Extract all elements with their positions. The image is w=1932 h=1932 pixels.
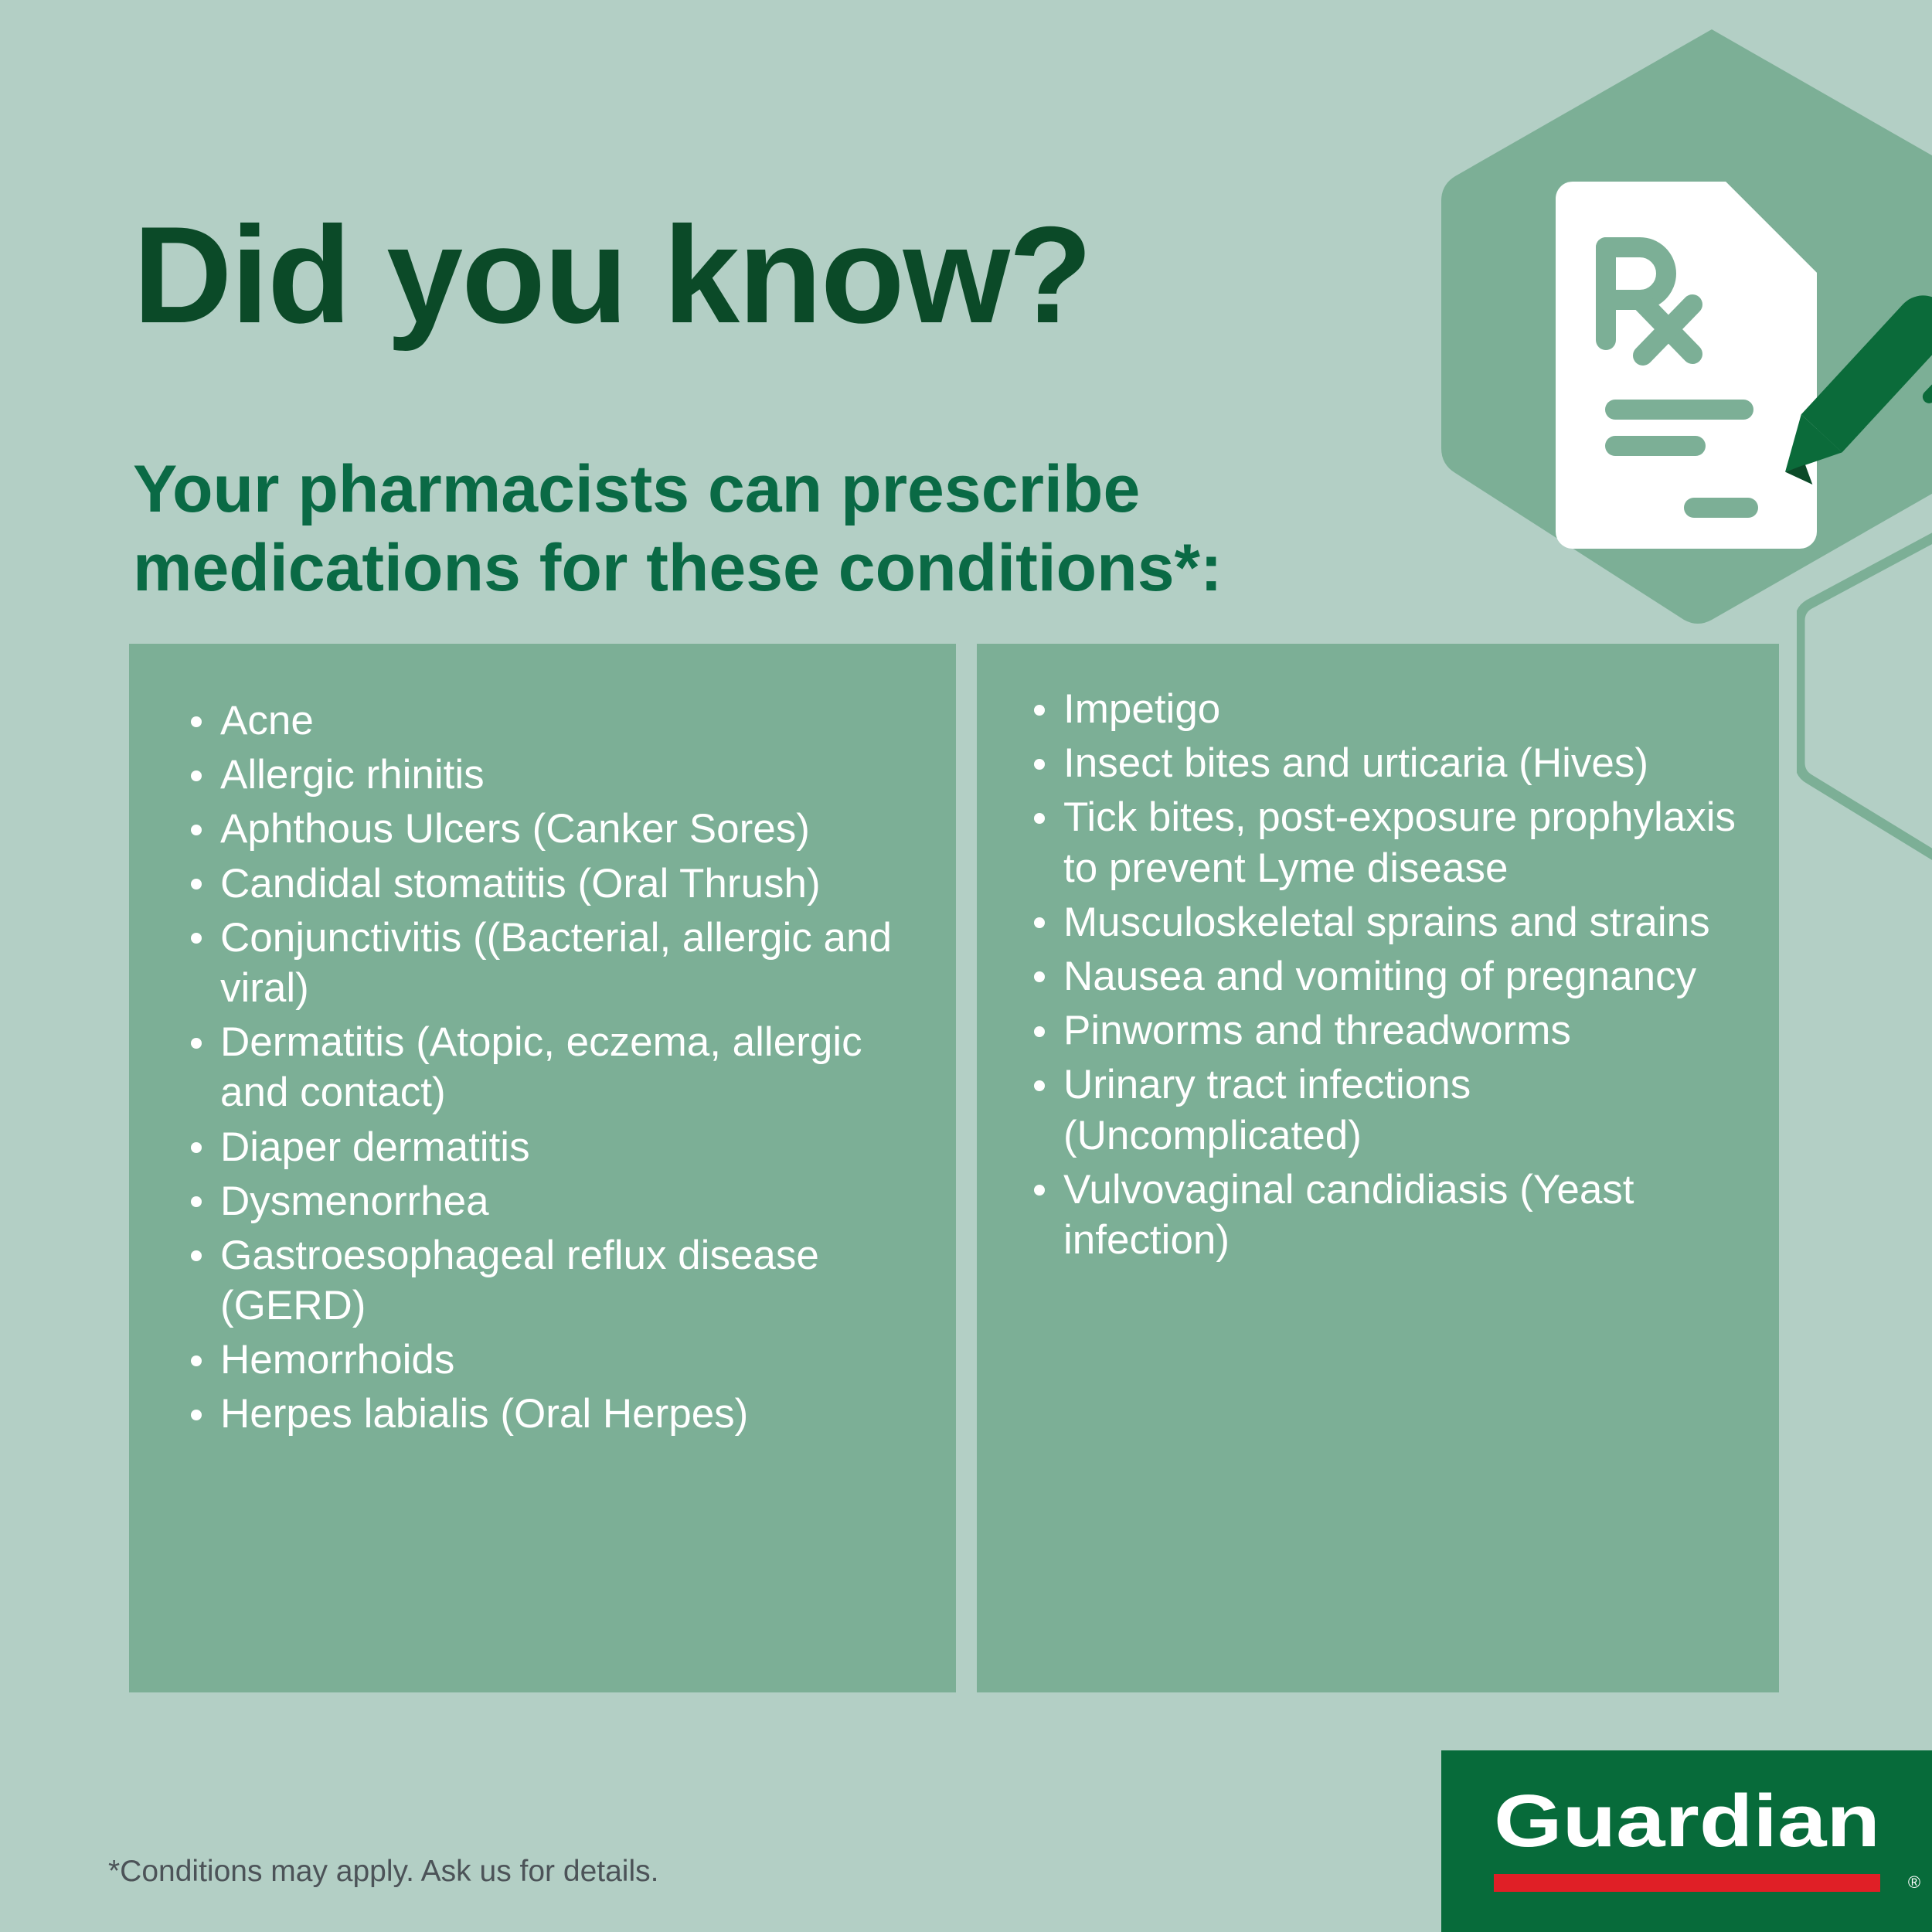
bullet-icon bbox=[1034, 813, 1045, 824]
condition-label: Aphthous Ulcers (Canker Sores) bbox=[220, 806, 810, 852]
bullet-icon bbox=[1034, 1026, 1045, 1037]
bullet-icon bbox=[191, 825, 202, 835]
hexagon-solid-decor bbox=[1441, 23, 1932, 626]
condition-label: Musculoskeletal sprains and strains bbox=[1063, 900, 1710, 945]
guardian-red-rule bbox=[1494, 1874, 1880, 1892]
condition-list-item: Herpes labialis (Oral Herpes) bbox=[186, 1389, 920, 1439]
bullet-icon bbox=[1034, 1080, 1045, 1091]
bullet-icon bbox=[191, 1142, 202, 1153]
guardian-wordmark-text: Guardian bbox=[1494, 1784, 1880, 1860]
condition-list-item: Impetigo bbox=[1029, 684, 1771, 734]
bullet-icon bbox=[1034, 705, 1045, 716]
condition-list-item: Allergic rhinitis bbox=[186, 750, 920, 800]
condition-label: Candidal stomatitis (Oral Thrush) bbox=[220, 861, 821, 906]
bullet-icon bbox=[191, 716, 202, 727]
condition-label: Impetigo bbox=[1063, 686, 1220, 732]
condition-list-item: Diaper dermatitis bbox=[186, 1122, 920, 1172]
conditions-card-left: AcneAllergic rhinitisAphthous Ulcers (Ca… bbox=[129, 644, 956, 1692]
infographic-poster: Did you know? Your pharmacists can presc… bbox=[0, 0, 1932, 1932]
page-title: Did you know? bbox=[133, 206, 1091, 344]
registered-trademark-icon: ® bbox=[1904, 1873, 1924, 1893]
bullet-icon bbox=[191, 933, 202, 944]
prescription-document-pen-icon bbox=[1556, 182, 1932, 549]
condition-list-item: Insect bites and urticaria (Hives) bbox=[1029, 738, 1771, 788]
bullet-icon bbox=[1034, 759, 1045, 770]
condition-label: Dermatitis (Atopic, eczema, allergic and… bbox=[220, 1019, 862, 1115]
bullet-icon bbox=[191, 879, 202, 889]
guardian-wordmark: Guardian bbox=[1494, 1784, 1880, 1860]
condition-list-item: Vulvovaginal candidiasis (Yeast infectio… bbox=[1029, 1165, 1771, 1265]
bullet-icon bbox=[191, 1410, 202, 1420]
condition-label: Insect bites and urticaria (Hives) bbox=[1063, 740, 1648, 786]
condition-list-item: Aphthous Ulcers (Canker Sores) bbox=[186, 804, 920, 854]
guardian-logo: Guardian ® bbox=[1441, 1750, 1932, 1932]
bullet-icon bbox=[191, 1355, 202, 1366]
footnote-disclaimer: *Conditions may apply. Ask us for detail… bbox=[108, 1855, 658, 1889]
condition-list-item: Urinary tract infections (Uncomplicated) bbox=[1029, 1060, 1771, 1160]
condition-list-item: Tick bites, post-exposure prophylaxis to… bbox=[1029, 792, 1771, 893]
condition-label: Nausea and vomiting of pregnancy bbox=[1063, 954, 1696, 999]
condition-list-item: Candidal stomatitis (Oral Thrush) bbox=[186, 859, 920, 909]
condition-label: Conjunctivitis ((Bacterial, allergic and… bbox=[220, 915, 892, 1011]
condition-list-item: Dermatitis (Atopic, eczema, allergic and… bbox=[186, 1017, 920, 1117]
condition-label: Vulvovaginal candidiasis (Yeast infectio… bbox=[1063, 1167, 1634, 1263]
condition-list-item: Gastroesophageal reflux disease (GERD) bbox=[186, 1230, 920, 1331]
condition-label: Diaper dermatitis bbox=[220, 1124, 530, 1170]
condition-list-item: Pinworms and threadworms bbox=[1029, 1005, 1771, 1056]
condition-label: Herpes labialis (Oral Herpes) bbox=[220, 1391, 748, 1437]
condition-label: Tick bites, post-exposure prophylaxis to… bbox=[1063, 794, 1736, 890]
bullet-icon bbox=[191, 1196, 202, 1207]
bullet-icon bbox=[191, 1250, 202, 1261]
condition-label: Acne bbox=[220, 698, 314, 743]
page-subtitle: Your pharmacists can prescribe medicatio… bbox=[133, 451, 1261, 607]
condition-list-item: Nausea and vomiting of pregnancy bbox=[1029, 951, 1771, 1002]
bullet-icon bbox=[1034, 917, 1045, 928]
bullet-icon bbox=[1034, 1185, 1045, 1196]
bullet-icon bbox=[191, 770, 202, 781]
condition-list-item: Conjunctivitis ((Bacterial, allergic and… bbox=[186, 913, 920, 1013]
conditions-cards: AcneAllergic rhinitisAphthous Ulcers (Ca… bbox=[129, 644, 1779, 1692]
condition-label: Allergic rhinitis bbox=[220, 752, 485, 798]
condition-label: Urinary tract infections (Uncomplicated) bbox=[1063, 1062, 1471, 1158]
condition-list-item: Hemorrhoids bbox=[186, 1335, 920, 1385]
condition-label: Pinworms and threadworms bbox=[1063, 1008, 1571, 1053]
hexagon-outline-decor bbox=[1797, 510, 1932, 873]
conditions-list-right: ImpetigoInsect bites and urticaria (Hive… bbox=[1029, 684, 1771, 1269]
condition-label: Dysmenorrhea bbox=[220, 1179, 489, 1224]
condition-list-item: Musculoskeletal sprains and strains bbox=[1029, 897, 1771, 947]
condition-list-item: Acne bbox=[186, 696, 920, 746]
condition-label: Gastroesophageal reflux disease (GERD) bbox=[220, 1233, 819, 1328]
condition-list-item: Dysmenorrhea bbox=[186, 1176, 920, 1226]
conditions-list-left: AcneAllergic rhinitisAphthous Ulcers (Ca… bbox=[186, 696, 920, 1444]
bullet-icon bbox=[191, 1038, 202, 1049]
bullet-icon bbox=[1034, 971, 1045, 982]
conditions-card-right: ImpetigoInsect bites and urticaria (Hive… bbox=[977, 644, 1779, 1692]
condition-label: Hemorrhoids bbox=[220, 1337, 454, 1383]
